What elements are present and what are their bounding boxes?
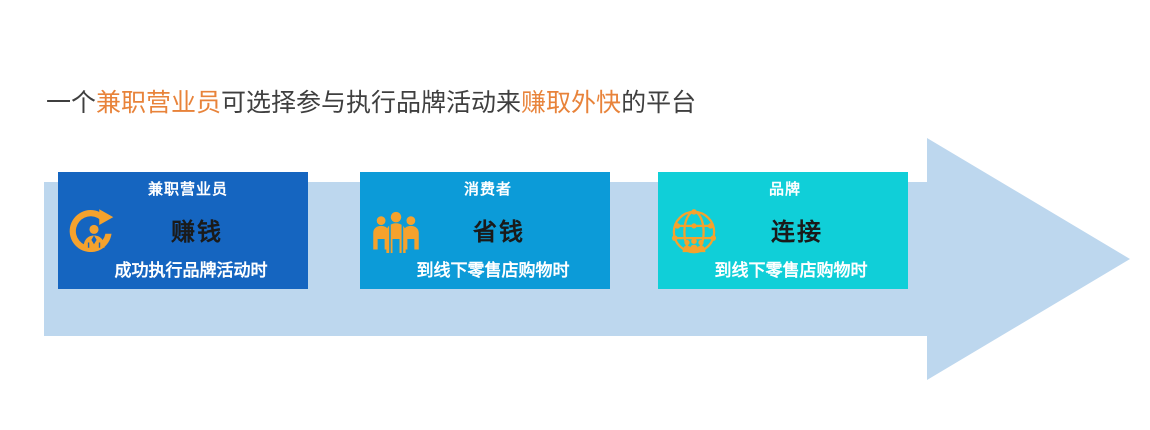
page-title: 一个兼职营业员可选择参与执行品牌活动来赚取外快的平台	[46, 85, 926, 125]
headline-segment-2: 可选择参与执行品牌活动来	[221, 90, 521, 117]
headline-segment-3-highlight: 赚取外快	[521, 90, 621, 117]
headline-segment-1-highlight: 兼职营业员	[96, 90, 221, 117]
headline-segment-4: 的平台	[621, 90, 696, 117]
headline-segment-0: 一个	[46, 90, 96, 117]
card-main-text: 省钱	[360, 212, 610, 247]
card-sub-text: 成功执行品牌活动时	[58, 256, 308, 281]
card-title: 兼职营业员	[58, 178, 308, 199]
card-title: 消费者	[360, 178, 610, 199]
slide-canvas: 一个兼职营业员可选择参与执行品牌活动来赚取外快的平台 兼职营业员	[0, 0, 1150, 430]
card-sub-text: 到线下零售店购物时	[360, 256, 610, 281]
card-brand[interactable]: 品牌	[658, 172, 908, 289]
card-sub-text: 到线下零售店购物时	[658, 256, 908, 281]
card-main-text: 赚钱	[58, 212, 308, 247]
card-part-time-clerk[interactable]: 兼职营业员 赚钱 成功执行品牌活动时	[58, 172, 308, 289]
card-title: 品牌	[658, 178, 908, 199]
card-main-text: 连接	[658, 212, 908, 247]
card-consumer[interactable]: 消费者 省钱 到线下零售店购物时	[360, 172, 610, 289]
